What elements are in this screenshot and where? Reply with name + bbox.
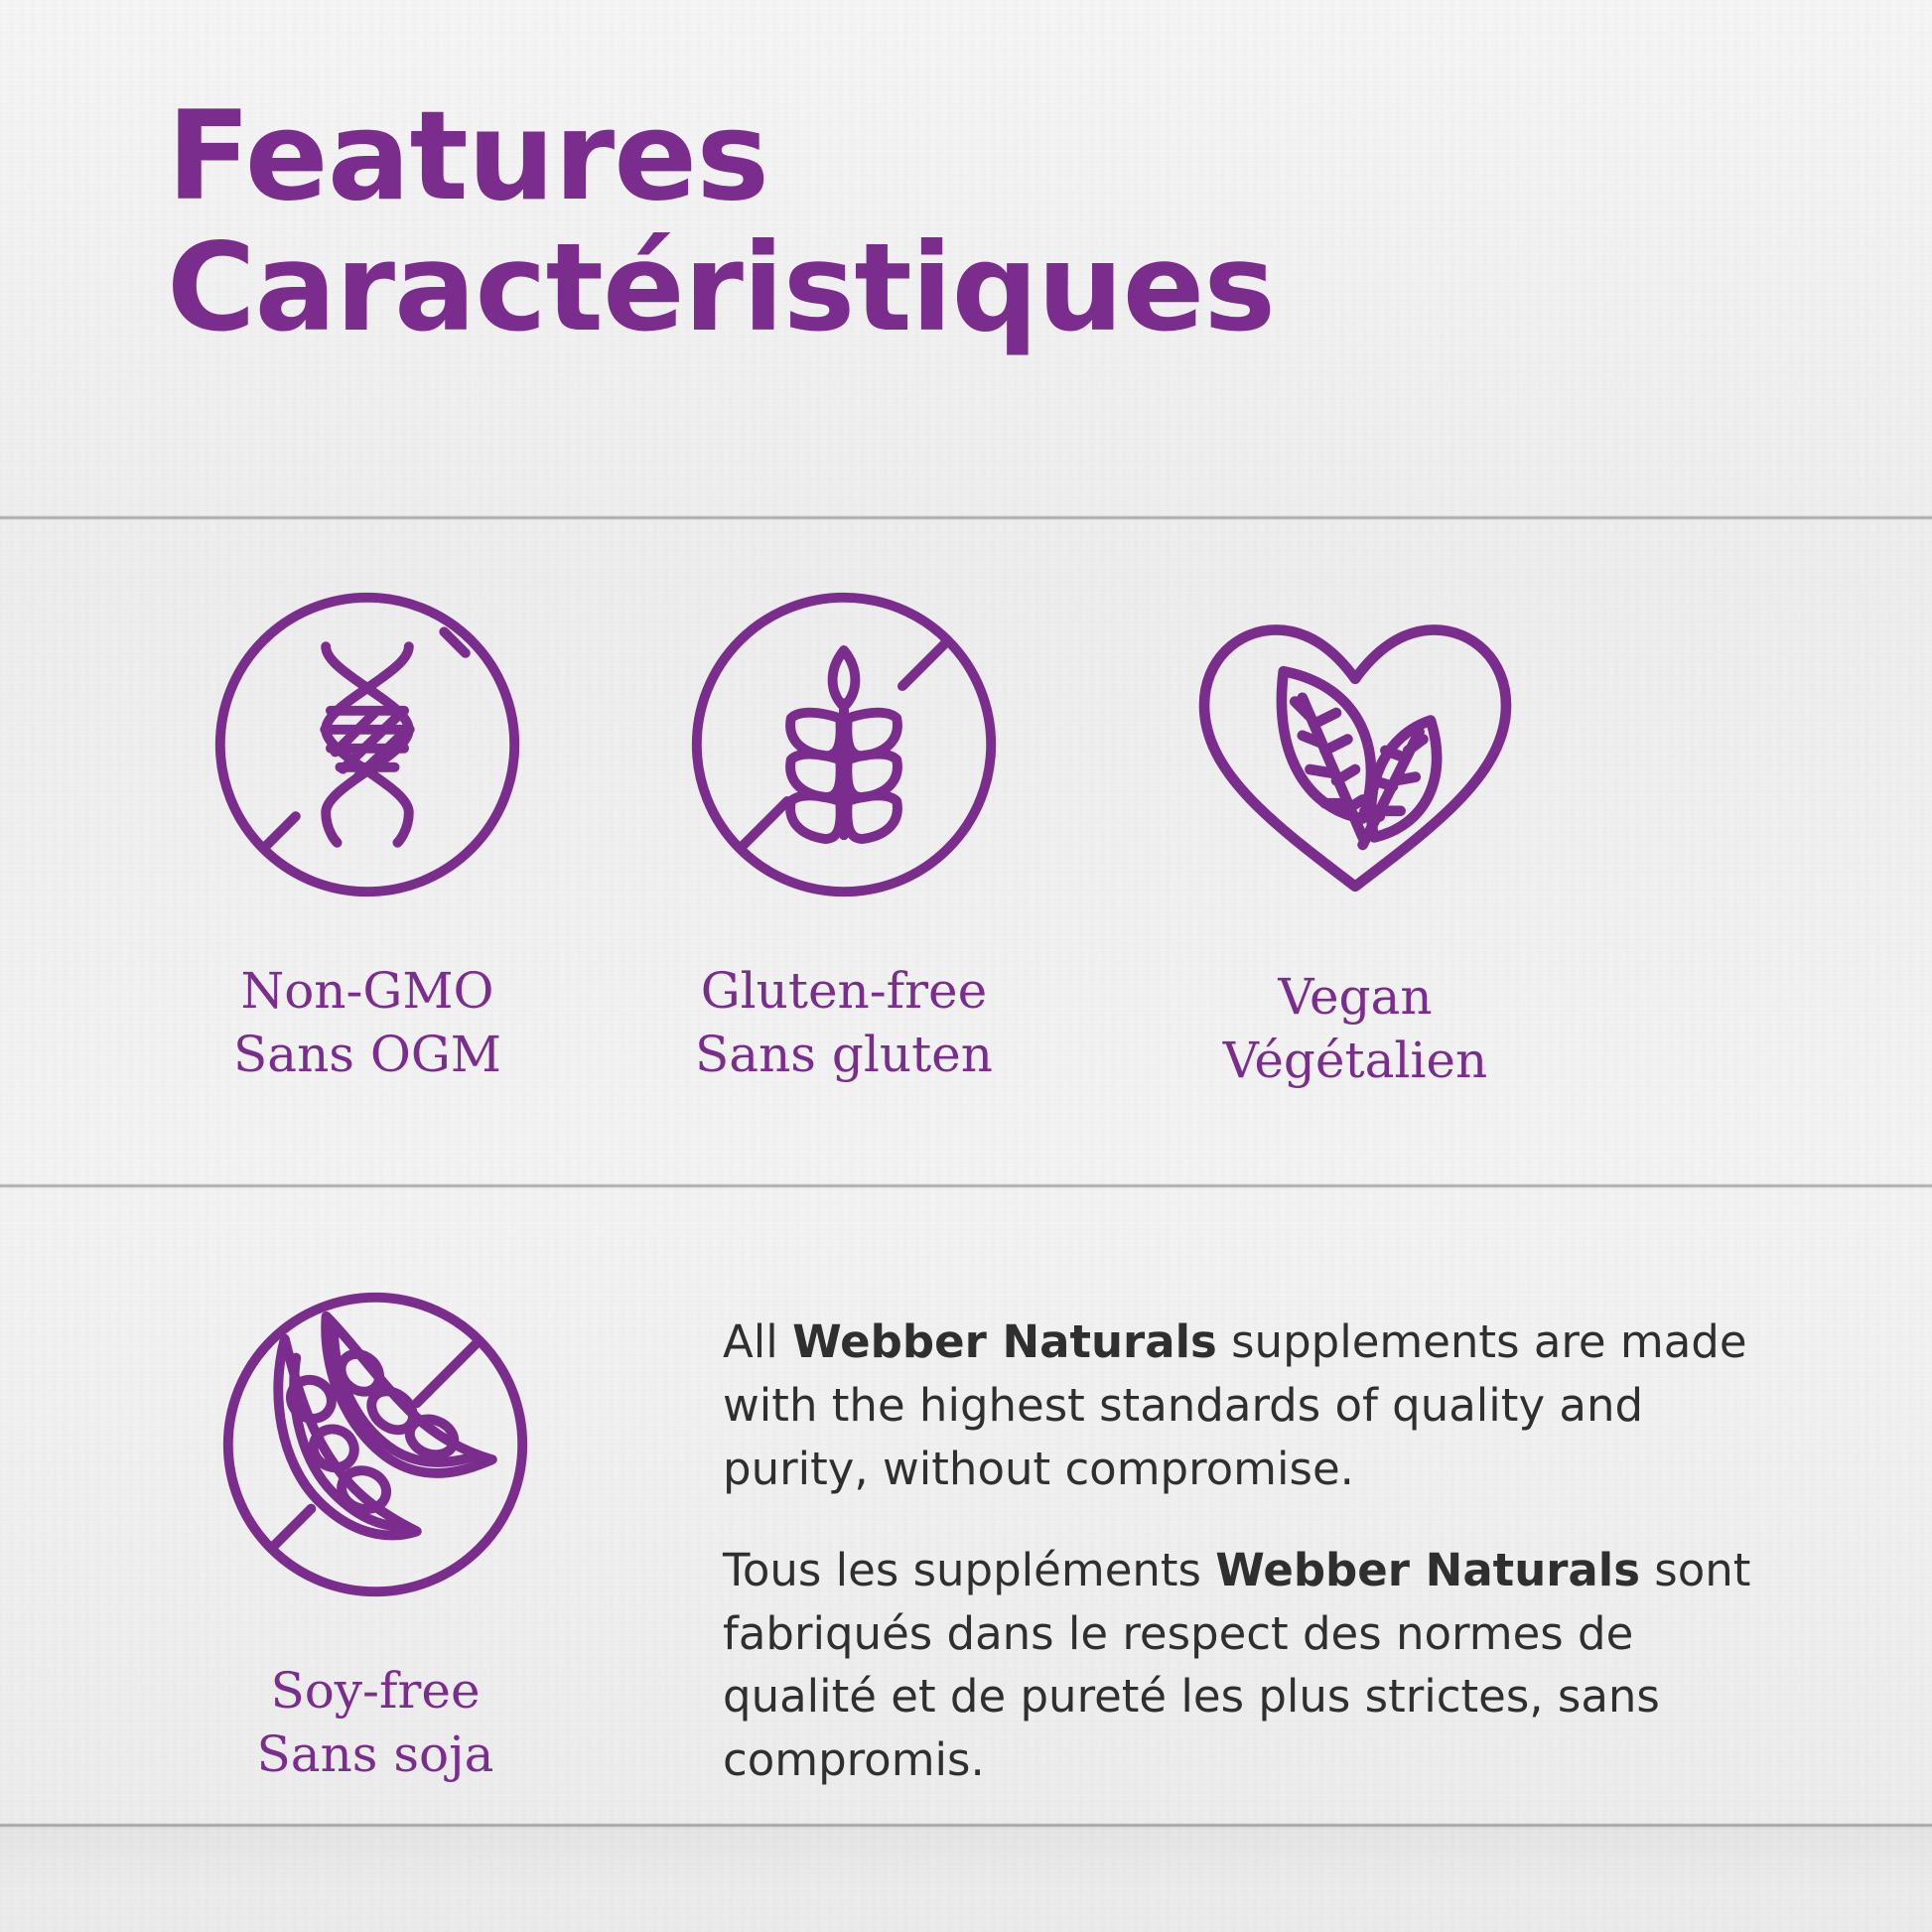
feature-label-vegan: Vegan Végétalien: [1223, 965, 1487, 1092]
page-title-fr: Caractéristiques: [167, 223, 1805, 353]
feature-label-fr: Végétalien: [1223, 1029, 1487, 1092]
feature-label-fr: Sans OGM: [233, 1023, 501, 1086]
no-gmo-dna-icon: [179, 556, 556, 933]
bottom-plank-shade: [0, 1825, 1932, 1932]
feature-non-gmo: Non-GMO Sans OGM: [119, 556, 616, 1086]
feature-panel: Features Caractéristiques: [0, 0, 1932, 1932]
paragraph-en-before: All: [723, 1315, 792, 1368]
vegan-heart-leaf-icon: [1167, 562, 1544, 939]
plank-seam-2: [0, 1183, 1932, 1189]
feature-label-en: Gluten-free: [701, 962, 988, 1020]
paragraph-fr-before: Tous les suppléments: [723, 1544, 1215, 1596]
paragraph-en: All Webber Naturals supplements are made…: [723, 1311, 1775, 1501]
feature-label-soy-free: Soy-free Sans soja: [257, 1659, 494, 1786]
body-copy: All Webber Naturals supplements are made…: [723, 1311, 1775, 1792]
paragraph-fr: Tous les suppléments Webber Naturals son…: [723, 1539, 1775, 1793]
feature-label-fr: Sans gluten: [695, 1023, 993, 1086]
feature-gluten-free: Gluten-free Sans gluten: [596, 556, 1092, 1086]
plank-seam-3: [0, 1823, 1932, 1829]
brand-name-fr: Webber Naturals: [1215, 1544, 1640, 1596]
feature-label-gluten-free: Gluten-free Sans gluten: [695, 959, 993, 1086]
feature-label-en: Non-GMO: [240, 962, 493, 1020]
feature-vegan: Vegan Végétalien: [1107, 562, 1603, 1092]
no-soy-bean-pod-icon: [187, 1256, 564, 1633]
feature-label-en: Soy-free: [270, 1662, 480, 1720]
feature-label-fr: Sans soja: [257, 1723, 494, 1786]
feature-soy-free: Soy-free Sans soja: [127, 1256, 623, 1786]
page-title: Features Caractéristiques: [167, 91, 1805, 352]
plank-seam-1: [0, 515, 1932, 521]
page-title-en: Features: [167, 91, 1805, 223]
feature-label-non-gmo: Non-GMO Sans OGM: [233, 959, 501, 1086]
no-gluten-wheat-icon: [655, 556, 1033, 933]
feature-label-en: Vegan: [1278, 968, 1432, 1026]
brand-name-en: Webber Naturals: [792, 1315, 1217, 1368]
